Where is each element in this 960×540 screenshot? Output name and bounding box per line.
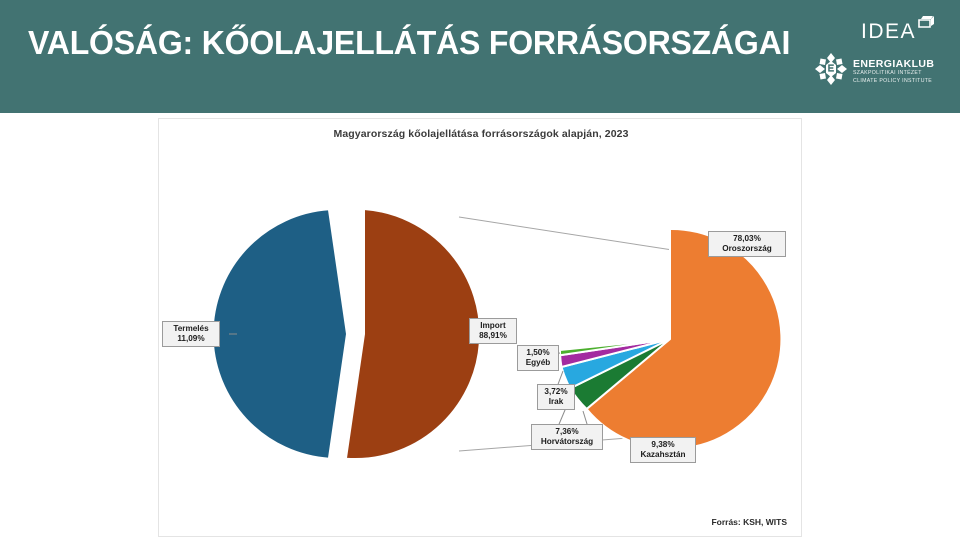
logo-block: IDEA — [814, 8, 942, 100]
idea-square-mark-icon — [918, 14, 936, 35]
callout-kazahsztan-line1: 9,38% — [635, 440, 691, 450]
callout-irak[interactable]: 3,72% Irak — [537, 384, 575, 410]
idea-logo: IDEA — [861, 12, 936, 42]
callout-termeles-line1: Termelés — [167, 324, 215, 334]
chart-source-note: Forrás: KSH, WITS — [711, 517, 787, 527]
callout-irak-line2: Irak — [542, 397, 570, 407]
callout-import[interactable]: Import 88,91% — [469, 318, 517, 344]
callout-oroszorszag[interactable]: 78,03% Oroszország — [708, 231, 786, 257]
energiaklub-logo: ENERGIAKLUB SZAKPOLITIKAI INTÉZET CLIMAT… — [814, 52, 934, 91]
pie-slice-oroszorszag[interactable] — [587, 229, 782, 449]
callout-import-line2: 88,91% — [474, 331, 512, 341]
chart-panel: Magyarország kőolajellátása forrásország… — [158, 118, 802, 537]
callout-horvatorszag[interactable]: 7,36% Horvátország — [531, 424, 603, 450]
callout-oroszorszag-line2: Oroszország — [713, 244, 781, 254]
energiaklub-subtitle-hu: SZAKPOLITIKAI INTÉZET — [853, 70, 934, 78]
callout-egyeb-line2: Egyéb — [522, 358, 554, 368]
callout-import-line1: Import — [474, 321, 512, 331]
callout-oroszorszag-line1: 78,03% — [713, 234, 781, 244]
callout-kazahsztan-line2: Kazahsztán — [635, 450, 691, 460]
callout-horvatorszag-line1: 7,36% — [536, 427, 598, 437]
energiaklub-text-block: ENERGIAKLUB SZAKPOLITIKAI INTÉZET CLIMAT… — [853, 58, 934, 85]
page-title: VALÓSÁG: KŐOLAJELLÁTÁS FORRÁSORSZÁGAI — [28, 22, 794, 64]
pie-slice-import[interactable] — [346, 209, 480, 459]
callout-kazahsztan[interactable]: 9,38% Kazahsztán — [630, 437, 696, 463]
energiaklub-name: ENERGIAKLUB — [853, 58, 934, 70]
callout-termeles-line2: 11,09% — [167, 334, 215, 344]
idea-wordmark: IDEA — [861, 21, 916, 42]
callout-termeles[interactable]: Termelés 11,09% — [162, 321, 220, 347]
callout-horvatorszag-line2: Horvátország — [536, 437, 598, 447]
energiaklub-subtitle-en: CLIMATE POLICY INSTITUTE — [853, 78, 934, 86]
breakdown-pie-group — [560, 229, 781, 449]
callout-irak-line1: 3,72% — [542, 387, 570, 397]
callout-egyeb[interactable]: 1,50% Egyéb — [517, 345, 559, 371]
energiaklub-flower-mark-icon — [814, 52, 848, 91]
primary-pie-group — [213, 209, 481, 459]
slide-header-bar: VALÓSÁG: KŐOLAJELLÁTÁS FORRÁSORSZÁGAI ID… — [0, 0, 960, 113]
callout-egyeb-line1: 1,50% — [522, 348, 554, 358]
